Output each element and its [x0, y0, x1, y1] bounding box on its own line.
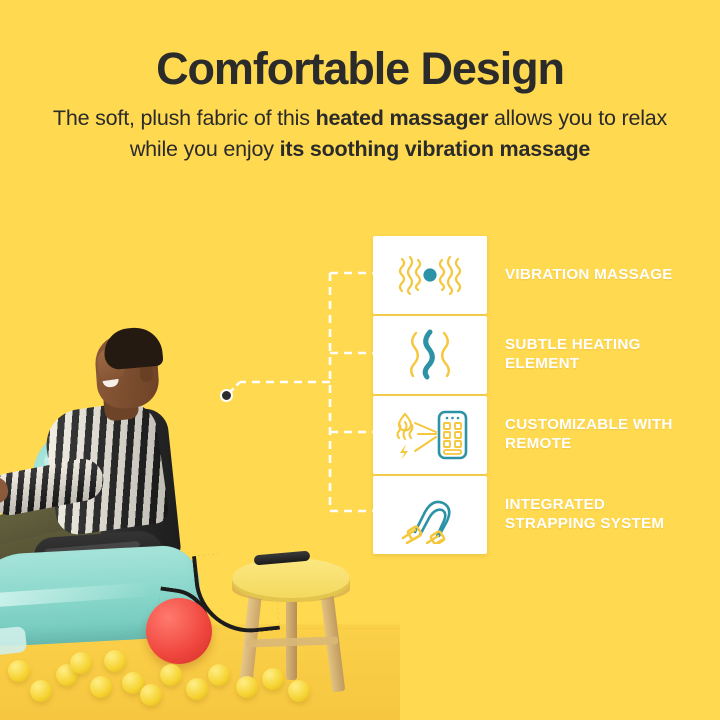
subheading-part-2: heated massager — [316, 106, 489, 130]
remote-display — [444, 450, 461, 454]
yellow-ball — [90, 676, 112, 698]
feature-label-strap: INTEGRATED STRAPPING SYSTEM — [505, 496, 693, 533]
feature-card-strap[interactable] — [373, 476, 487, 554]
feature-card-remote[interactable] — [373, 396, 487, 474]
feature-label-remote: CUSTOMIZABLE WITH REMOTE — [505, 416, 693, 453]
yellow-ball — [140, 684, 162, 706]
lightning-bolt-icon — [400, 444, 408, 460]
feature-row-strap[interactable]: INTEGRATED STRAPPING SYSTEM — [373, 476, 693, 554]
remote-control-icon — [387, 406, 473, 464]
yellow-ball — [208, 664, 230, 686]
vibration-waves-icon — [386, 249, 474, 301]
feature-label-vibration: VIBRATION MASSAGE — [505, 266, 673, 285]
person-hair — [102, 326, 163, 371]
product-callout-dot — [220, 389, 233, 402]
yellow-ball — [186, 678, 208, 700]
yellow-ball — [236, 676, 258, 698]
product-lifestyle-photo — [0, 250, 400, 720]
person-ear — [140, 365, 153, 382]
yellow-ball — [70, 652, 92, 674]
feature-card-heating[interactable] — [373, 316, 487, 394]
vibration-core-dot — [423, 268, 436, 281]
heat-wave-center — [425, 332, 432, 377]
page-title: Comfortable Design — [0, 46, 720, 91]
signal-rays-icon — [415, 423, 436, 451]
feature-row-heating[interactable]: SUBTLE HEATING ELEMENT — [373, 316, 693, 394]
yellow-ball — [160, 664, 182, 686]
yellow-ball — [288, 680, 310, 702]
header-block: Comfortable Design The soft, plush fabri… — [0, 46, 720, 165]
remote-buttons — [444, 423, 461, 447]
subheading: The soft, plush fabric of this heated ma… — [40, 103, 680, 165]
feature-row-vibration[interactable]: VIBRATION MASSAGE — [373, 236, 693, 314]
yellow-ball — [104, 650, 126, 672]
red-ball — [146, 598, 212, 664]
strap-buckle-icon — [393, 486, 467, 544]
yellow-ball — [8, 660, 30, 682]
yellow-ball — [30, 680, 52, 702]
heat-lines-icon — [398, 422, 413, 439]
product-feature-banner: Comfortable Design The soft, plush fabri… — [0, 0, 720, 720]
subheading-part-1: The soft, plush fabric of this — [53, 106, 316, 130]
feature-list: VIBRATION MASSAGE SUBTLE HEATING ELEMENT — [373, 236, 693, 556]
remote-top-dots — [446, 417, 460, 420]
feature-label-heating: SUBTLE HEATING ELEMENT — [505, 336, 693, 373]
yellow-ball — [262, 668, 284, 690]
heat-waves-icon — [398, 327, 462, 383]
feature-card-vibration[interactable] — [373, 236, 487, 314]
subheading-part-4: its soothing vibration massage — [280, 137, 591, 161]
feature-row-remote[interactable]: CUSTOMIZABLE WITH REMOTE — [373, 396, 693, 474]
